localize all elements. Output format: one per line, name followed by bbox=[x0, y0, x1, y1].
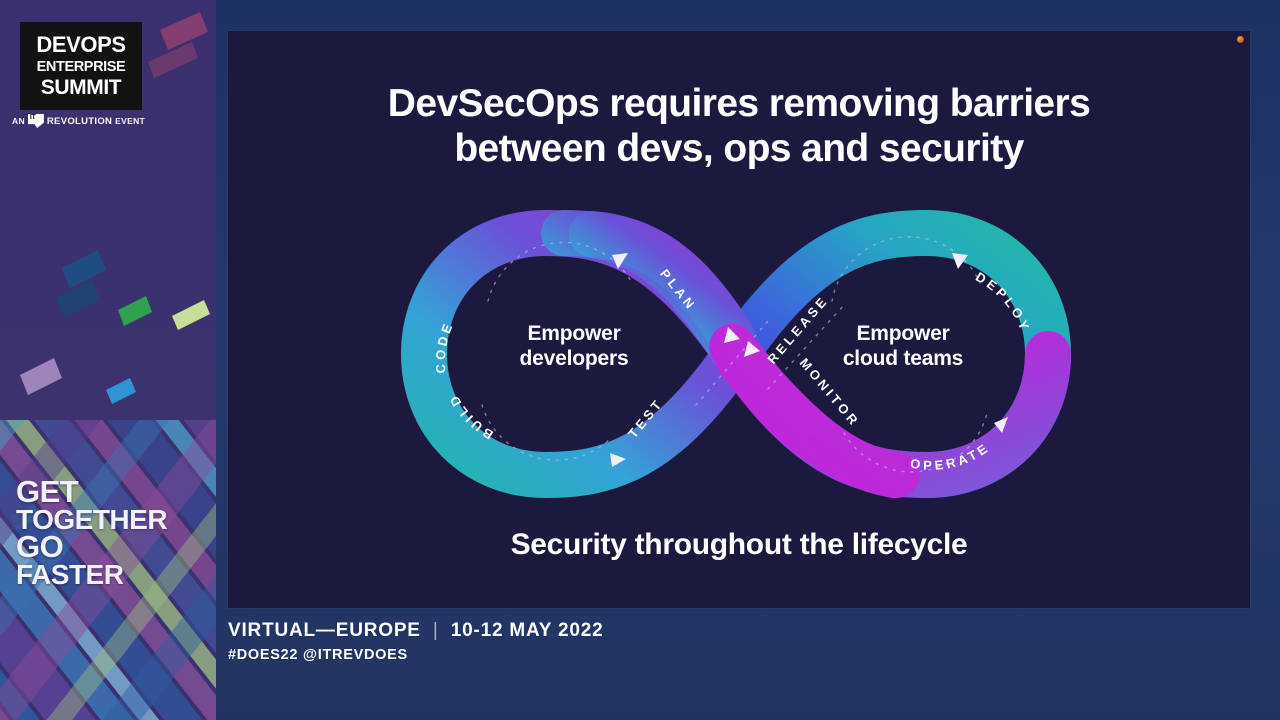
presentation-screenshot: DEVOPS ENTERPRISE SUMMIT AN REVOLUTION E… bbox=[0, 0, 1280, 720]
slide-title: DevSecOps requires removing barriers bet… bbox=[228, 81, 1250, 171]
logo-line-summit: SUMMIT bbox=[41, 77, 121, 98]
footer-hashtags: #DOES22 @ITREVDOES bbox=[228, 647, 603, 663]
devops-infinity-diagram: CODE BUILD PLAN TEST RELEASE M bbox=[396, 209, 1076, 499]
footer-dates: 10-12 MAY 2022 bbox=[451, 620, 604, 641]
slide-surface: DevSecOps requires removing barriers bet… bbox=[228, 31, 1250, 608]
logo-line-devops: DEVOPS bbox=[36, 34, 125, 56]
center-right-line-1: Empower bbox=[798, 321, 1008, 346]
footer-location-and-dates: VIRTUAL—EUROPE | 10-12 MAY 2022 bbox=[228, 620, 603, 642]
it-revolution-logo-icon bbox=[28, 114, 44, 128]
tagline-prefix: AN bbox=[12, 116, 25, 126]
slide-title-line-2: between devs, ops and security bbox=[228, 126, 1250, 171]
slogan-line-get: GET bbox=[16, 478, 196, 507]
center-left-line-2: developers bbox=[474, 346, 674, 371]
brand-sidebar: DEVOPS ENTERPRISE SUMMIT AN REVOLUTION E… bbox=[0, 0, 216, 720]
slogan-line-faster: FASTER bbox=[16, 562, 196, 588]
event-slogan: GET TOGETHER GO FASTER bbox=[16, 478, 196, 588]
slide-title-line-1: DevSecOps requires removing barriers bbox=[228, 81, 1250, 126]
center-label-left: Empower developers bbox=[474, 321, 674, 371]
logo-line-enterprise: ENTERPRISE bbox=[37, 60, 126, 75]
footer-separator: | bbox=[427, 620, 445, 641]
event-footer: VIRTUAL—EUROPE | 10-12 MAY 2022 #DOES22 … bbox=[228, 620, 603, 663]
footer-location: VIRTUAL—EUROPE bbox=[228, 620, 421, 641]
tagline-suffix: EVENT bbox=[115, 116, 145, 126]
recording-indicator-dot bbox=[1237, 36, 1244, 43]
slide-caption: Security throughout the lifecycle bbox=[228, 528, 1250, 562]
tagline-brand: REVOLUTION bbox=[47, 116, 112, 127]
slogan-line-go: GO bbox=[16, 533, 196, 562]
center-left-line-1: Empower bbox=[474, 321, 674, 346]
event-logo: DEVOPS ENTERPRISE SUMMIT bbox=[20, 22, 142, 110]
center-right-line-2: cloud teams bbox=[798, 346, 1008, 371]
center-label-right: Empower cloud teams bbox=[798, 321, 1008, 371]
event-tagline: AN REVOLUTION EVENT bbox=[12, 113, 162, 129]
